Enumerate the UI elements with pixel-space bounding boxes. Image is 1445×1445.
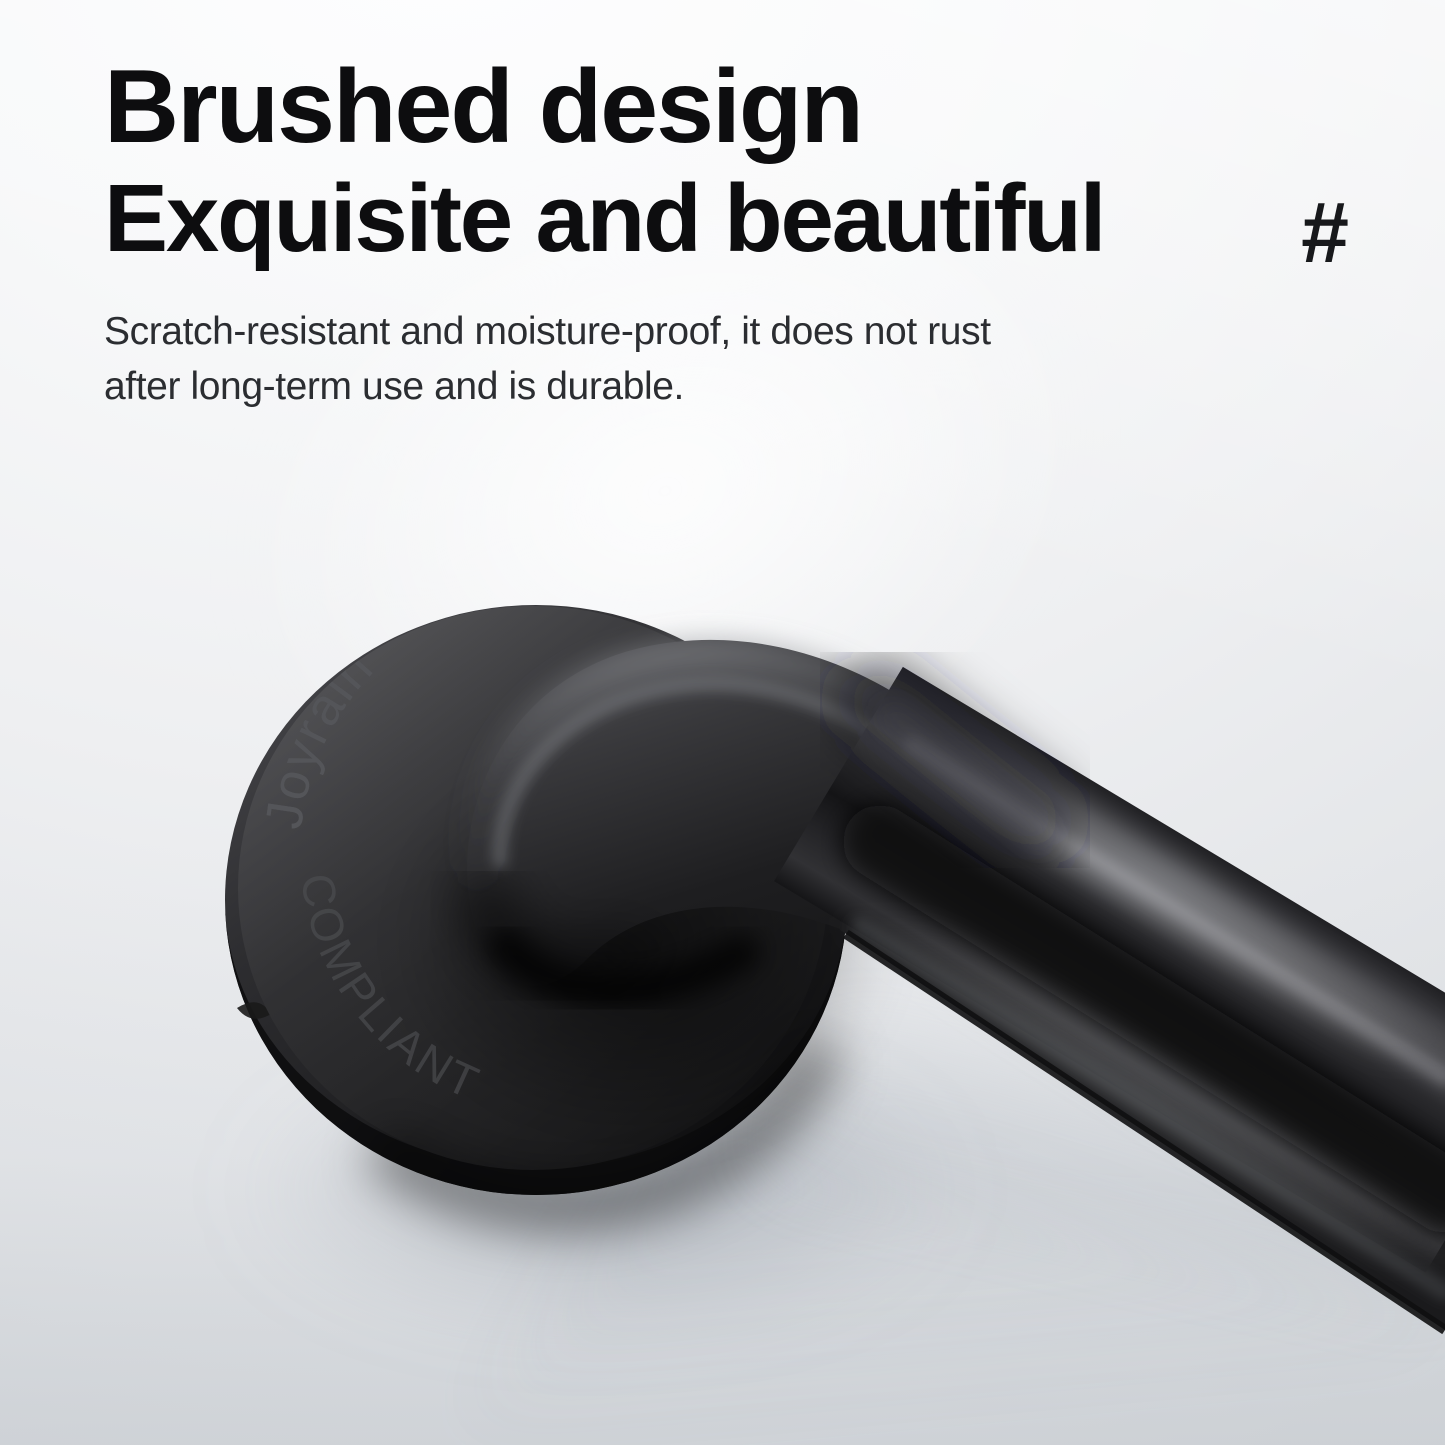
flange-engraving: Joyrain Joyrain COMPLIANT: [255, 639, 489, 1110]
copy-block: Brushed design Exquisite and beautiful S…: [104, 54, 1114, 415]
svg-text:COMPLIANT: COMPLIANT: [291, 870, 489, 1110]
headline-secondary: Exquisite and beautiful: [104, 169, 1114, 270]
headline-primary: Brushed design: [104, 54, 1114, 161]
product-cast-shadow: [240, 1030, 1445, 1445]
product-feature-banner: Joyrain Joyrain COMPLIANT: [0, 0, 1445, 1445]
body-text: Scratch-resistant and moisture-proof, it…: [104, 304, 1034, 415]
grab-tube: [774, 667, 1445, 1330]
flange: Joyrain Joyrain COMPLIANT: [225, 605, 852, 1206]
elbow: [390, 640, 1150, 1140]
hash-mark: #: [1301, 190, 1349, 276]
svg-text:Joyrain: Joyrain: [255, 639, 385, 833]
svg-text:Joyrain: Joyrain: [255, 639, 385, 833]
elbow-tube-blend: [880, 700, 1040, 836]
